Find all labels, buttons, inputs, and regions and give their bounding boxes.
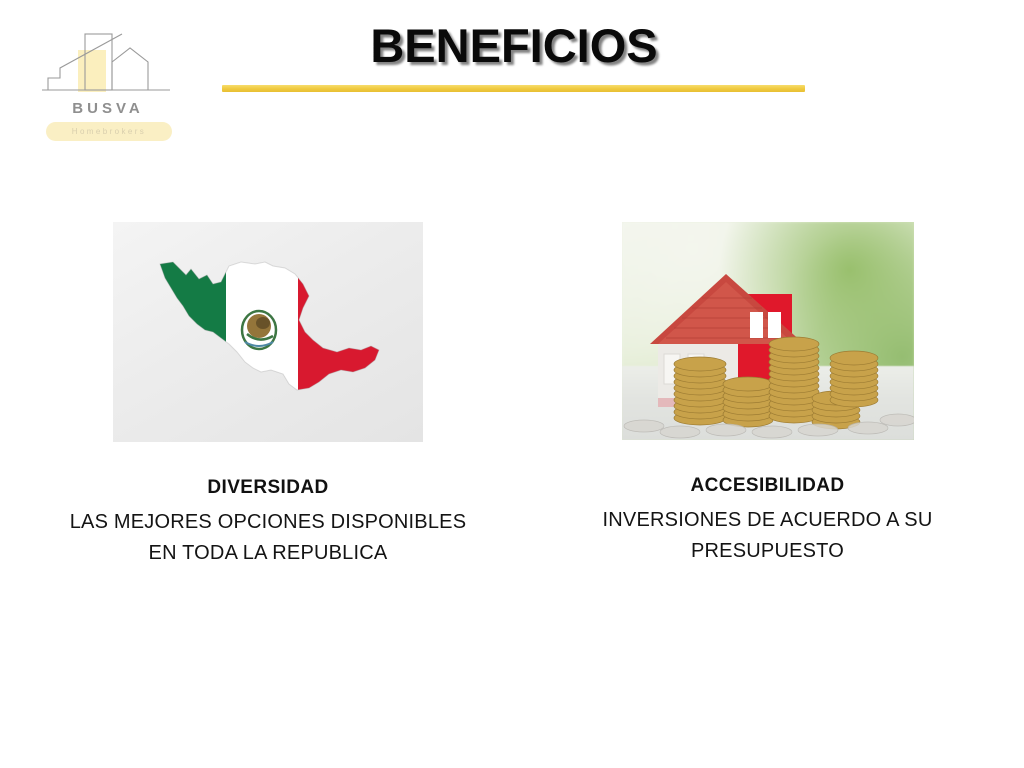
card-heading: DIVERSIDAD <box>18 477 518 499</box>
buildings-logo-icon <box>38 28 178 100</box>
mexico-flag-map-image <box>113 222 423 442</box>
page-title: BENEFICIOS <box>222 18 806 73</box>
card-body-text: LAS MEJORES OPCIONES DISPONIBLES EN TODA… <box>18 507 518 569</box>
card-body-text: INVERSIONES DE ACUERDO A SU PRESUPUESTO <box>525 505 1010 567</box>
benefit-card-accesibilidad: ACCESIBILIDAD INVERSIONES DE ACUERDO A S… <box>525 222 1010 567</box>
title-underline-rule <box>222 85 805 92</box>
house-and-coins-image <box>622 222 914 440</box>
card-heading: ACCESIBILIDAD <box>525 475 1010 497</box>
logo-tagline: Homebrokers <box>46 122 172 141</box>
logo-wordmark: BUSVA <box>38 100 178 117</box>
slide-canvas: { "slide": { "background_color": "#fffff… <box>0 0 1024 768</box>
benefit-card-diversidad: DIVERSIDAD LAS MEJORES OPCIONES DISPONIB… <box>18 222 518 569</box>
logo-tagline-band: Homebrokers <box>46 122 172 141</box>
busva-logo: BUSVA Homebrokers <box>38 28 178 140</box>
